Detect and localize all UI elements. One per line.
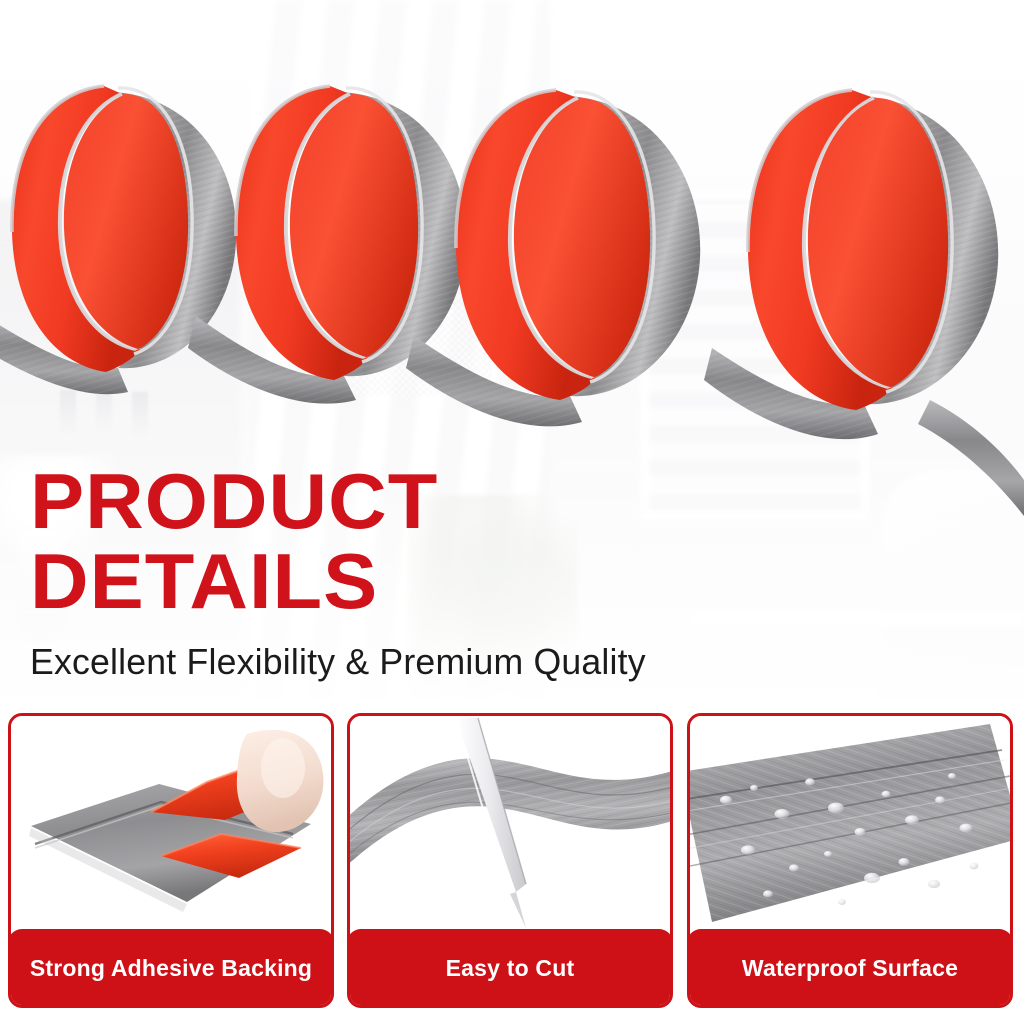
feature-card-easy-to-cut[interactable]: Easy to Cut: [347, 713, 673, 1008]
card-caption-bar: Easy to Cut: [347, 929, 673, 1008]
card-caption-text: Easy to Cut: [446, 955, 575, 982]
headline-line-1: PRODUCT: [30, 466, 438, 538]
card-caption-text: Waterproof Surface: [742, 955, 958, 982]
page-subtitle: Excellent Flexibility & Premium Quality: [30, 641, 646, 683]
feature-card-waterproof-surface[interactable]: Waterproof Surface: [687, 713, 1013, 1008]
page-title: PRODUCT DETAILS: [30, 466, 423, 618]
feature-card-row: Strong Adhesive Backing: [0, 706, 1024, 1024]
blade-cutting-illustration: [350, 716, 670, 938]
adhesive-peel-illustration: [11, 716, 331, 938]
product-details-page: PRODUCT DETAILS Excellent Flexibility & …: [0, 0, 1024, 1024]
feature-card-strong-adhesive-backing[interactable]: Strong Adhesive Backing: [8, 713, 334, 1008]
headline-line-2: DETAILS: [30, 546, 438, 618]
waterproof-surface-photo: [690, 716, 1010, 938]
water-droplets-illustration: [690, 716, 1010, 938]
card-caption-bar: Strong Adhesive Backing: [8, 929, 334, 1008]
adhesive-backing-photo: [11, 716, 331, 938]
card-caption-text: Strong Adhesive Backing: [30, 955, 312, 982]
coil-4: [704, 90, 1024, 516]
easy-to-cut-photo: [350, 716, 670, 938]
card-caption-bar: Waterproof Surface: [687, 929, 1013, 1008]
